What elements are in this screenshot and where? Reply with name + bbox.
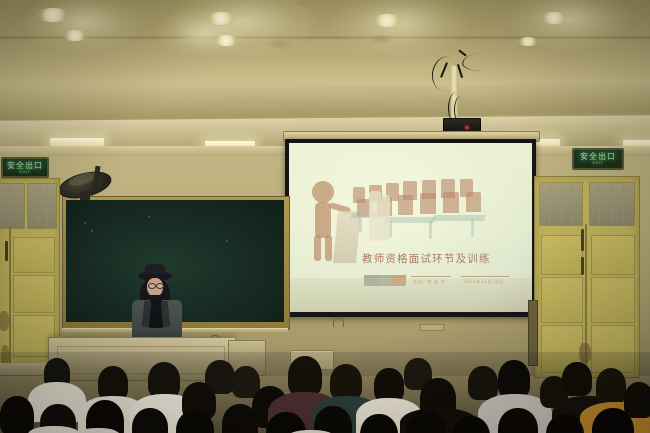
door-left-glass-pane [0,183,25,229]
exit-sign-left-sub: EXIT [20,170,31,174]
ceiling-panel-light [50,138,104,146]
door-mullion [623,183,624,223]
door-left-handle[interactable] [5,241,8,261]
ceiling-downlight [206,12,236,25]
speaker-hat-crown [145,264,165,274]
ceiling [0,0,650,120]
chalk-mark [84,222,86,224]
wall-fan[interactable] [58,158,114,208]
slide-seat [443,192,459,213]
slide-seat-row [432,215,486,221]
audience-head [596,368,626,404]
ceiling-fixture [296,0,308,6]
slide-seat-leg [429,221,432,239]
slide-walking-figure [381,195,390,241]
slide-seat [466,192,481,212]
screen-lower-shadow [289,278,532,312]
ceiling-beam-upper [0,82,650,119]
door-right[interactable] [534,176,640,378]
audience-head [468,366,498,400]
door-mullion [561,183,562,223]
slide-walking-figure [369,191,381,241]
wall-plate [420,324,444,331]
door-wear-mark [0,311,9,331]
door-right-glass-pane [589,182,635,226]
slide-figure-leg [325,235,332,261]
audience-head [624,382,650,418]
ceiling-vent [264,38,296,50]
door-mullion [571,183,572,223]
audience-head [374,368,404,402]
ceiling-downlight [372,14,402,27]
door-left-glass-pane [27,183,57,229]
door-left-panel [13,275,55,313]
chalk-mark [148,216,150,218]
lecture-hall-photo: 教师资格面试环节及训练 主讲：陈 老 师 2016年12月28日 安全出口 EX… [0,0,650,433]
projection-screen[interactable]: 教师资格面试环节及训练 主讲：陈 老 师 2016年12月28日 [289,143,532,312]
exit-sign-left: 安全出口 EXIT [1,157,49,178]
slide-seat [398,195,413,215]
audience-head [0,396,34,433]
ceiling-light-halo [22,0,142,52]
ceiling-downlight [517,37,539,46]
ceiling-downlight [36,8,70,22]
chalk-mark [226,240,228,242]
slide-figure-head [312,181,334,203]
door-right-panel [591,235,635,275]
door-mullion [9,184,10,226]
door-right-panel [541,235,583,275]
ceiling-downlight [213,35,239,46]
ceiling-light-halo [330,0,470,56]
speaker-glasses [156,283,164,289]
door-right-panel [591,277,635,323]
chalk-mark [91,230,93,232]
door-mullion [549,183,550,223]
door-right-panel [541,277,583,323]
ceiling-downlight [62,30,88,41]
ceiling-downlight [540,12,568,24]
slide-title: 教师资格面试环节及训练 [362,251,491,266]
audience-head [98,366,128,400]
door-left-panel [13,237,55,273]
slide-figure-leg [314,235,321,261]
slide-seat-leg [359,218,362,232]
projector-power-led [465,126,469,129]
screen-pull-hook[interactable] [333,318,344,327]
exit-sign-right-sub: EXIT [593,161,604,165]
slide-seat-leg [471,219,474,237]
slide-seat [420,193,436,214]
speaker-glasses [148,283,156,289]
audience-head [288,356,322,396]
ceiling-vent [368,34,394,44]
door-mullion [47,184,48,226]
fan-base [80,192,90,200]
door-mullion [611,183,612,223]
audience [0,352,650,433]
door-right-handle[interactable] [581,229,584,251]
exit-sign-right: 安全出口 EXIT [572,148,624,170]
door-right-handle[interactable] [581,257,584,275]
door-mullion [599,183,600,223]
audience-head [148,362,180,398]
audience-head [562,362,592,396]
audience-head [498,360,530,398]
audience-head [330,364,362,400]
slide-rule [411,276,451,277]
door-mullion [37,184,38,226]
slide-rule [461,276,509,277]
